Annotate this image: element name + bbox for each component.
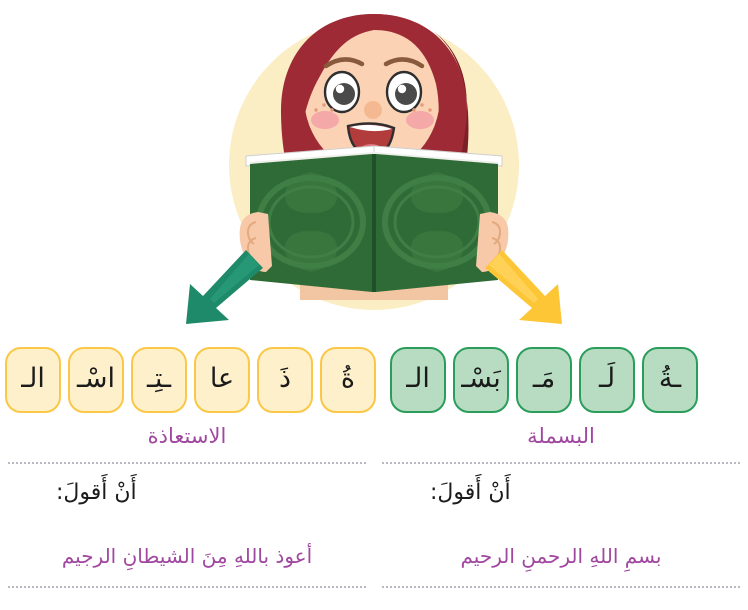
book-spine — [372, 154, 376, 292]
title-basmalah: البسملة — [519, 424, 603, 455]
prompt-column-basmalah: أَنْ أَقولَ: — [374, 480, 748, 524]
yellow-arrow-down-right-icon — [485, 250, 562, 324]
iris-right — [395, 83, 417, 105]
title-istiadhah: الاستعاذة — [140, 424, 235, 455]
tile-istiadhah-2[interactable]: اسْـ — [68, 347, 124, 413]
freckle — [330, 108, 333, 111]
syllable-tiles-area: ـةُ لَـ مَـ بَسْـ الـ ةُ ذَ عا ـتِـ اسْـ… — [0, 344, 748, 416]
iris-left — [333, 83, 355, 105]
dotted-rule — [382, 586, 740, 588]
green-arrow-down-left-icon — [186, 250, 263, 324]
girl-reading-quran-illustration — [0, 0, 748, 340]
dotted-rule — [8, 462, 366, 464]
dotted-rule — [382, 462, 740, 464]
worksheet-text-block: البسملة الاستعاذة أَنْ أَقولَ: أَنْ أَقو… — [0, 424, 748, 610]
tile-istiadhah-6[interactable]: ةُ — [320, 347, 376, 413]
freckle — [314, 108, 317, 111]
tile-istiadhah-1[interactable]: الـ — [5, 347, 61, 413]
tile-istiadhah-4[interactable]: عا — [194, 347, 250, 413]
worksheet-prompts-row: أَنْ أَقولَ: أَنْ أَقولَ: — [0, 480, 748, 524]
tile-basmalah-2[interactable]: بَسْـ — [453, 347, 509, 413]
basmalah-syllable-tiles: ـةُ لَـ مَـ بَسْـ الـ — [390, 347, 698, 413]
answer-column-istiadhah: أعوذ باللهِ مِنَ الشيطانِ الرجيم — [0, 544, 374, 588]
prompt-basmalah: أَنْ أَقولَ: — [374, 480, 748, 509]
istiadhah-syllable-tiles: ةُ ذَ عا ـتِـ اسْـ الـ — [5, 347, 376, 413]
answer-column-basmalah: بسمِ اللهِ الرحمنِ الرحيم — [374, 544, 748, 588]
tile-basmalah-4[interactable]: لَـ — [579, 347, 635, 413]
freckle — [428, 108, 431, 111]
tile-istiadhah-3[interactable]: ـتِـ — [131, 347, 187, 413]
illustration-svg — [0, 0, 748, 340]
nose-icon — [364, 101, 382, 119]
worksheet-answers-row: بسمِ اللهِ الرحمنِ الرحيم أعوذ باللهِ مِ… — [0, 544, 748, 588]
answer-istiadhah: أعوذ باللهِ مِنَ الشيطانِ الرجيم — [56, 544, 318, 574]
prompt-column-istiadhah: أَنْ أَقولَ: — [0, 480, 374, 524]
tile-basmalah-1[interactable]: الـ — [390, 347, 446, 413]
prompt-istiadhah: أَنْ أَقولَ: — [0, 480, 374, 509]
tile-basmalah-3[interactable]: مَـ — [516, 347, 572, 413]
freckle — [412, 108, 415, 111]
cheek-right — [406, 111, 434, 129]
cheek-left — [311, 111, 339, 129]
eye-highlight-right — [398, 85, 406, 93]
answer-basmalah: بسمِ اللهِ الرحمنِ الرحيم — [454, 544, 667, 574]
tile-istiadhah-5[interactable]: ذَ — [257, 347, 313, 413]
freckle — [420, 103, 423, 106]
worksheet-column-istiadhah: الاستعاذة — [0, 424, 374, 464]
dotted-rule — [8, 586, 366, 588]
eye-highlight-left — [336, 85, 344, 93]
worksheet-column-basmalah: البسملة — [374, 424, 748, 464]
tile-basmalah-5[interactable]: ـةُ — [642, 347, 698, 413]
worksheet-titles-row: البسملة الاستعاذة — [0, 424, 748, 464]
freckle — [322, 103, 325, 106]
